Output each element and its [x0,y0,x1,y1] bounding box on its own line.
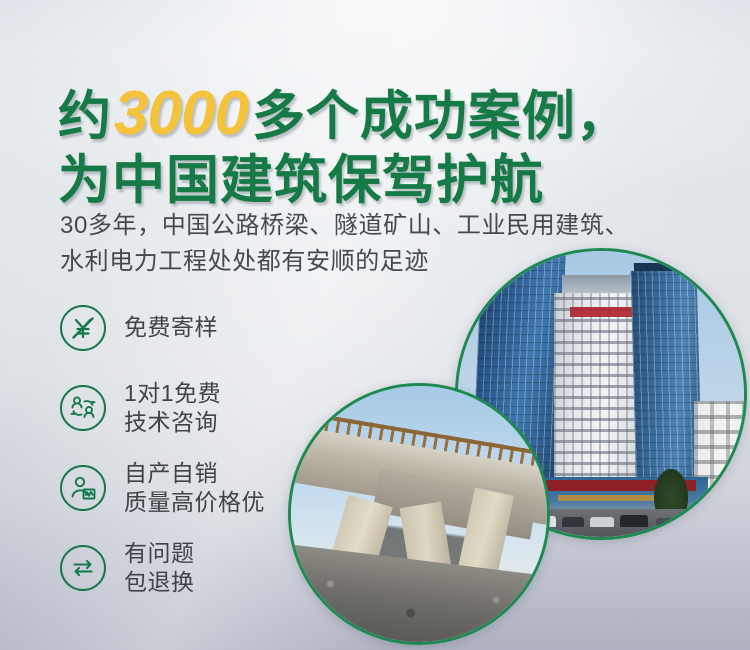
headline-line-1: 约3000多个成功案例， [58,82,718,145]
self-production-quality-icon [60,465,106,511]
feature-line-2: 技术咨询 [124,408,221,437]
roof-sign [570,307,636,317]
feature-text: 1对1免费 技术咨询 [124,379,221,438]
feature-item-one-on-one: 1对1免费 技术咨询 [60,376,265,440]
return-exchange-icon [60,545,106,591]
subtitle-line-2: 水利电力工程处处都有安顺的足迹 [60,244,720,280]
bridge-scene [291,386,547,642]
feature-text: 有问题 包退换 [124,539,195,598]
feature-line-1: 自产自销 [124,459,265,488]
bridge-photo [288,383,550,645]
subtitle: 30多年，中国公路桥梁、隧道矿山、工业民用建筑、 水利电力工程处处都有安顺的足迹 [60,208,720,281]
car [562,517,584,527]
feature-item-return-exchange: 有问题 包退换 [60,536,265,600]
feature-item-self-production: 自产自销 质量高价格优 [60,456,265,520]
car [590,517,614,527]
free-sample-icon [60,305,106,351]
feature-item-free-sample: 免费寄样 [60,296,265,360]
feature-line-1: 免费寄样 [124,314,218,340]
car [656,518,676,527]
feature-line-1: 1对1免费 [124,379,221,408]
feature-text: 免费寄样 [124,313,218,342]
feature-line-2: 质量高价格优 [124,488,265,517]
headline-prefix: 约 [58,87,112,146]
car [620,515,648,527]
headline-suffix: 多个成功案例， [252,87,630,146]
headline: 约3000多个成功案例， 为中国建筑保驾护航 [58,82,718,208]
headline-number: 3000 [112,79,252,148]
one-on-one-consult-icon [60,385,106,431]
headline-line-2: 为中国建筑保驾护航 [58,154,718,208]
subtitle-line-1: 30多年，中国公路桥梁、隧道矿山、工业民用建筑、 [60,208,720,244]
feature-text: 自产自销 质量高价格优 [124,459,265,518]
promo-banner: 约3000多个成功案例， 为中国建筑保驾护航 30多年，中国公路桥梁、隧道矿山、… [0,0,750,650]
feature-line-2: 包退换 [124,568,195,597]
feature-line-1: 有问题 [124,539,195,568]
feature-list: 免费寄样 1对1免费 技术咨询 [60,296,265,600]
